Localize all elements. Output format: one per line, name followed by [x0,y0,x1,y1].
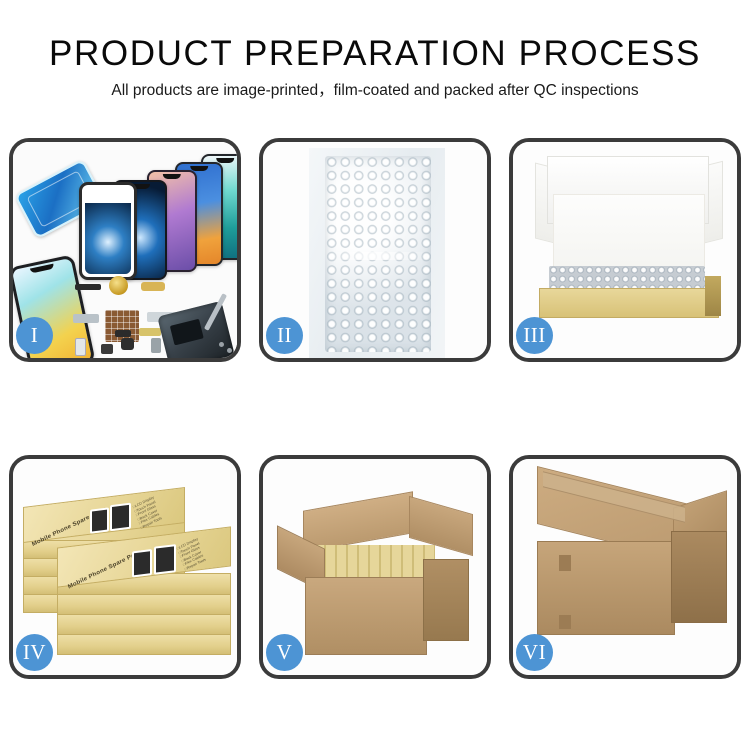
box-artwork-screen [110,503,131,532]
page-title: PRODUCT PREPARATION PROCESS [0,34,750,74]
process-step-panel-5[interactable]: V [259,455,491,679]
bubble-wrap-pouch [325,156,431,352]
screw-part [227,348,232,353]
retail-box [57,593,231,615]
step-badge-2: II [266,317,303,354]
small-component-part [115,330,131,337]
small-component-part [101,344,113,354]
process-step-panel-4[interactable]: Mobile Phone Spare Parts LCD Display Tou… [9,455,241,679]
process-step-panel-3[interactable]: III [509,138,741,362]
process-step-panel-6[interactable]: VI [509,455,741,679]
step-badge-6: VI [516,634,553,671]
carton-handle-notch [559,615,571,629]
box-artwork-screen [132,549,152,577]
box-side-panel [705,276,721,316]
flex-cable-part [141,282,165,291]
process-step-panel-2[interactable]: II [259,138,491,362]
carton-side-panel [423,559,469,641]
step-badge-3: III [516,317,553,354]
retail-box [57,613,231,635]
battery-connector-part [151,338,161,353]
phone-notch [30,264,55,274]
step-badge-4: IV [16,634,53,671]
process-step-panel-1[interactable]: I [9,138,241,362]
wireless-charging-coil-part [109,276,128,295]
carton-flap-back-left [303,491,413,552]
step-badge-5: V [266,634,303,671]
carton-side-panel [671,531,727,623]
small-component-part [75,338,86,356]
step-badge-1: I [16,317,53,354]
process-step-grid: I II III [9,138,741,679]
carton-handle-notch [559,555,571,571]
box-artwork-screen [90,507,109,533]
camera-module-part [121,338,134,350]
phone-notch [163,174,181,179]
tempered-glass-panel [79,182,137,280]
page-subtitle: All products are image-printed，film-coat… [0,80,750,102]
speaker-module-part [75,284,101,290]
box-artwork-screen [154,544,176,575]
foam-liner [553,194,705,274]
retail-box [57,633,231,655]
pouch-seal-line [325,252,431,260]
retail-box-stack: Mobile Phone Spare Parts LCD Display Tou… [21,475,237,671]
carton-front-panel [537,541,675,635]
page-header: PRODUCT PREPARATION PROCESS All products… [0,0,750,102]
flex-cable-part [139,328,161,336]
box-front-panel [539,288,719,318]
flex-cable-part [73,314,99,323]
carton-front-panel [305,577,427,655]
screw-part [219,342,224,347]
